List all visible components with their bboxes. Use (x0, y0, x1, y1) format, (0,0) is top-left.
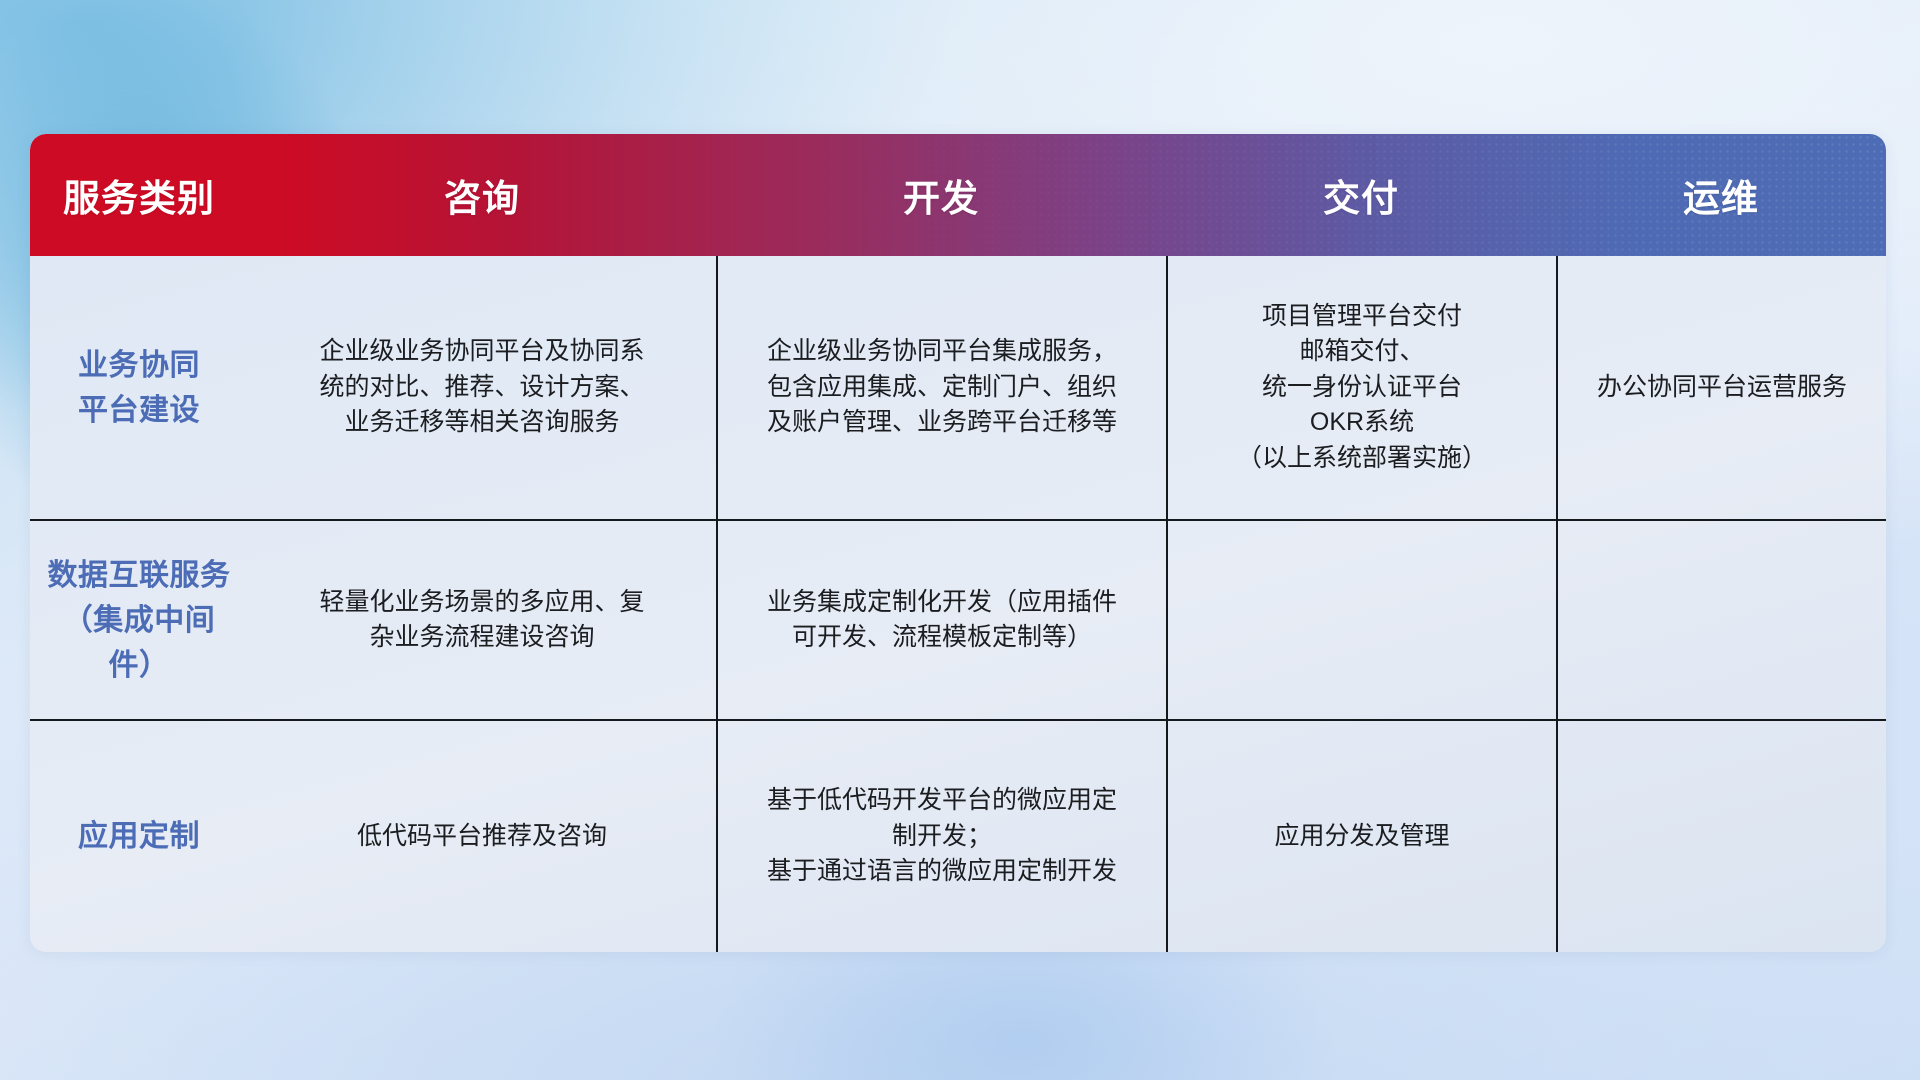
table-header-cell-delivery: 交付 (1166, 134, 1556, 256)
table-cell-delivery (1166, 521, 1556, 719)
table-row: 业务协同 平台建设 企业级业务协同平台及协同系 统的对比、推荐、设计方案、 业务… (30, 256, 1886, 519)
table-body: 业务协同 平台建设 企业级业务协同平台及协同系 统的对比、推荐、设计方案、 业务… (30, 256, 1886, 952)
table-header-cell-category: 服务类别 (30, 134, 248, 256)
table-cell-category: 应用定制 (30, 721, 248, 952)
table-cell-delivery: 项目管理平台交付 邮箱交付、 统一身份认证平台 OKR系统 （以上系统部署实施） (1166, 256, 1556, 519)
table-header-row: 服务类别 咨询 开发 交付 运维 (30, 134, 1886, 256)
table-cell-operations (1556, 721, 1886, 952)
table-cell-development: 企业级业务协同平台集成服务， 包含应用集成、定制门户、组织 及账户管理、业务跨平… (716, 256, 1166, 519)
table-cell-category: 业务协同 平台建设 (30, 256, 248, 519)
table-cell-operations (1556, 521, 1886, 719)
service-category-table: 服务类别 咨询 开发 交付 运维 业务协同 平台建设 企业级业务协同平台及协同系… (30, 134, 1886, 952)
table-cell-delivery: 应用分发及管理 (1166, 721, 1556, 952)
table-row: 数据互联服务 （集成中间件） 轻量化业务场景的多应用、复 杂业务流程建设咨询 业… (30, 519, 1886, 719)
table-row: 应用定制 低代码平台推荐及咨询 基于低代码开发平台的微应用定 制开发； 基于通过… (30, 719, 1886, 952)
table-cell-consulting: 企业级业务协同平台及协同系 统的对比、推荐、设计方案、 业务迁移等相关咨询服务 (248, 256, 716, 519)
table-header-cell-consulting: 咨询 (248, 134, 716, 256)
table-cell-category: 数据互联服务 （集成中间件） (30, 521, 248, 719)
table-cell-consulting: 轻量化业务场景的多应用、复 杂业务流程建设咨询 (248, 521, 716, 719)
table-cell-operations: 办公协同平台运营服务 (1556, 256, 1886, 519)
table-cell-development: 业务集成定制化开发（应用插件 可开发、流程模板定制等） (716, 521, 1166, 719)
table-cell-consulting: 低代码平台推荐及咨询 (248, 721, 716, 952)
table-header-cell-development: 开发 (716, 134, 1166, 256)
table-cell-development: 基于低代码开发平台的微应用定 制开发； 基于通过语言的微应用定制开发 (716, 721, 1166, 952)
table-header-cell-operations: 运维 (1556, 134, 1886, 256)
